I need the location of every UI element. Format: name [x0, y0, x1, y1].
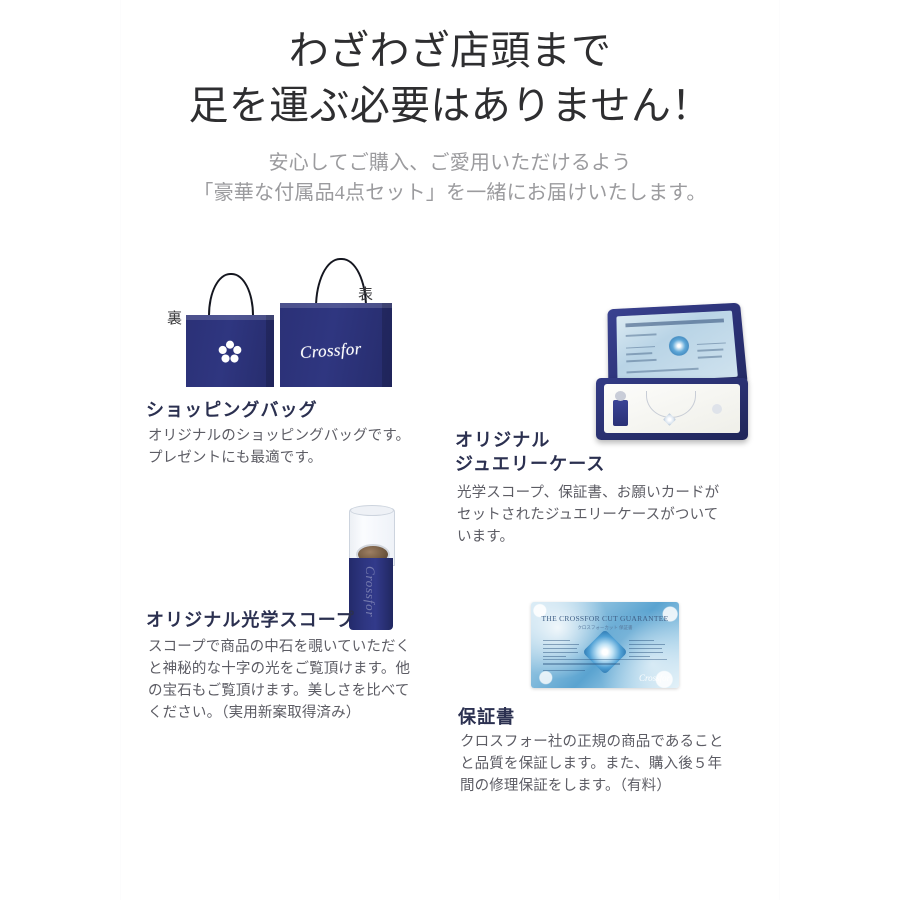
headline: わざわざ店頭まで 足を運ぶ必要はありません！	[0, 24, 900, 134]
jewelry-case-tray	[604, 384, 740, 433]
guarantee-card-text-line	[629, 656, 650, 657]
bag-front: Crossfor	[280, 303, 392, 387]
case-scope-cap	[615, 391, 626, 401]
flower-logo-icon	[217, 339, 243, 365]
guarantee-card-text-line	[629, 640, 654, 641]
guarantee-card-text-line	[543, 663, 620, 664]
case-certificate-line	[697, 342, 725, 345]
case-ring-item	[712, 404, 722, 414]
guarantee-card-text-line	[543, 656, 566, 657]
scope-glass-top-cap	[350, 505, 394, 516]
case-certificate-gem-icon	[668, 336, 689, 357]
headline-line-1: わざわざ店頭まで	[0, 24, 900, 78]
bag-back	[186, 315, 274, 387]
guarantee-card-text-line	[543, 644, 580, 645]
case-certificate-line	[626, 334, 657, 337]
guarantee-card-text-line	[543, 659, 667, 660]
jewelry-case-body: 光学スコープ、保証書、お願いカードが セットされたジュエリーケースがついて いま…	[457, 482, 777, 548]
subheading-line-1: 安心してご購入、ご愛用いただけるよう	[0, 148, 900, 178]
case-scope-item	[613, 400, 628, 426]
headline-line-2: 足を運ぶ必要はありません！	[0, 78, 900, 134]
optical-scope-body: スコープで商品の中石を覗いていただく と神秘的な十字の光をご覧頂けます。他 の宝…	[148, 636, 448, 724]
guarantee-card-text-line	[543, 648, 577, 649]
guarantee-card-illustration: THE CROSSFOR CUT GUARANTEE クロスフォーカット 保証書…	[531, 602, 679, 688]
guarantee-card-text-line	[629, 648, 662, 649]
bag-brand-script: Crossfor	[299, 339, 362, 363]
guarantee-card-title: THE CROSSFOR CUT GUARANTEE	[531, 614, 679, 623]
guarantee-card-text-line	[543, 670, 585, 671]
shopping-bag-title: ショッピングバッグ	[146, 398, 446, 422]
guarantee-card-text-line	[543, 652, 578, 653]
guarantee-card-text-line	[629, 652, 664, 653]
case-certificate-line	[627, 359, 657, 362]
guarantee-body: クロスフォー社の正規の商品であること と品質を保証します。また、購入後５年 間の…	[460, 731, 780, 797]
subheading: 安心してご購入、ご愛用いただけるよう 「豪華な付属品4点セット」を一緒にお届けい…	[0, 148, 900, 208]
case-certificate-title-bar	[626, 319, 724, 328]
bag-back-top-edge	[186, 315, 274, 320]
shopping-bag-illustration: 裏 Crossfor 表	[170, 255, 410, 405]
bag-back-label: 裏	[167, 307, 182, 328]
bag-front-top-edge	[280, 303, 392, 308]
guarantee-card-text-line	[629, 644, 665, 645]
case-certificate-line	[698, 356, 722, 359]
shopping-bag-body: オリジナルのショッピングバッグです。 プレゼントにも最適です。	[148, 425, 448, 469]
case-certificate	[616, 311, 737, 384]
page-gutter-left	[120, 0, 121, 900]
guarantee-card-brand-script: Crossfor	[639, 673, 670, 683]
jewelry-case-title: オリジナル ジュエリーケース	[455, 428, 755, 476]
guarantee-card-text-column-right	[629, 640, 667, 660]
subheading-line-2: 「豪華な付属品4点セット」を一緒にお届けいたします。	[0, 178, 900, 208]
guarantee-title: 保証書	[458, 705, 758, 729]
case-certificate-line	[698, 349, 724, 352]
optical-scope-title: オリジナル光学スコープ	[146, 608, 446, 632]
case-certificate-line	[627, 353, 653, 356]
bag-handle-back	[208, 273, 254, 319]
guarantee-card-text-column-left	[543, 640, 581, 660]
case-certificate-line	[626, 346, 654, 349]
bag-front-label: 表	[358, 283, 373, 304]
case-certificate-line	[627, 368, 699, 373]
guarantee-card-text-line	[543, 640, 570, 641]
